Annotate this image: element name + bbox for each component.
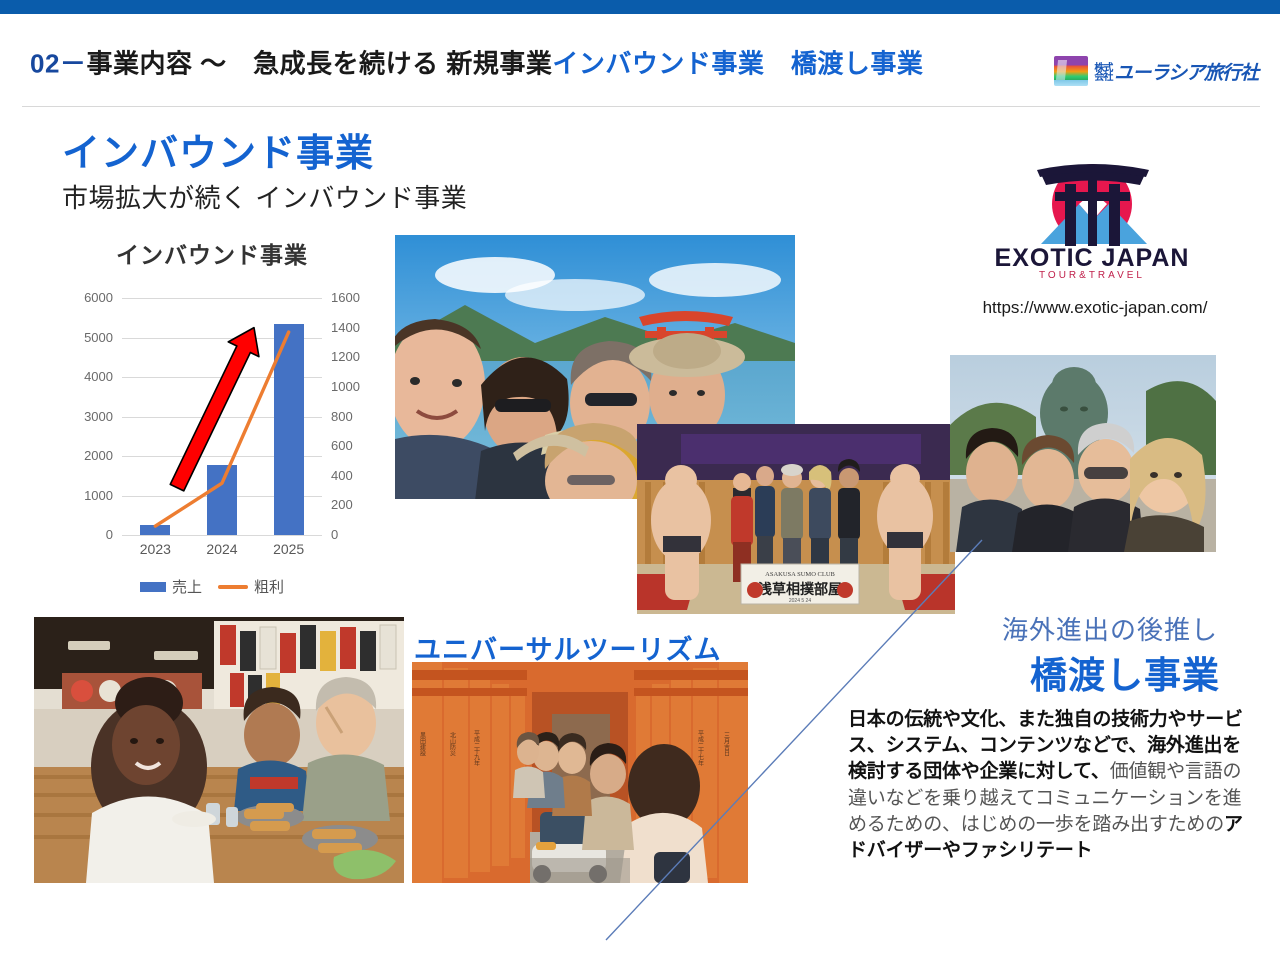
chart-gridline [122,535,322,536]
photo-kamakura-daibutsu-selfie [950,355,1216,552]
chart-xtick: 2023 [140,541,171,557]
chart-ytick-right: 1600 [331,290,360,305]
chart-ytick-right: 1200 [331,349,360,364]
legend-item-sales: 売上 [140,576,202,597]
chart-plot-area: 6000500040003000200010000160014001200100… [122,298,322,535]
exotic-japan-brand: EXOTIC JAPAN [995,244,1190,272]
header-title-blue: インバウンド事業 橋渡し事業 [552,49,923,79]
bridge-body-bold-5: やファシリテート [942,840,1092,861]
svg-text:平成二十九年: 平成二十九年 [473,730,480,767]
header-divider [22,106,1260,107]
header-index: 02 [30,49,60,79]
chart-ytick-left: 6000 [84,290,113,305]
svg-text:三月吉日: 三月吉日 [723,732,730,757]
bridge-body-bold-1: 日本の伝統や文化、また独自の技術力や [848,709,1186,730]
photo-fushimi-art: 黒田建設 北山防災 平成二十九年 平成二十七年 三月吉日 [412,662,748,883]
svg-text:北山防災: 北山防災 [449,731,456,756]
bridge-body-light-3: めの一歩を踏み出すための [998,814,1224,835]
section-subtitle: 市場拡大が続く インバウンド事業 [62,178,467,215]
photo-restaurant-art [34,617,404,883]
sumo-club-sign-icon: ASAKUSA SUMO CLUB 浅草相撲部屋 2024 5 24 [741,564,859,604]
top-accent-bar [0,0,1280,14]
section-title: インバウンド事業 [62,122,374,177]
photo-daibutsu-art [950,355,1216,552]
corporate-logo: 株式会社ユーラシア旅行社 [1054,56,1258,86]
chart-ytick-left: 1000 [84,488,113,503]
header-title: 02－事業内容 ～ 急成長を続ける 新規事業インバウンド事業 橋渡し事業 [30,44,923,81]
slide: 02－事業内容 ～ 急成長を続ける 新規事業インバウンド事業 橋渡し事業 株式会… [0,0,1280,960]
eurasia-travel-mark-icon [1054,56,1088,86]
chart-ytick-left: 5000 [84,330,113,345]
header-dash: － [60,49,87,79]
inbound-business-chart: インバウンド事業 6000500040003000200010000160014… [34,236,390,608]
chart-ytick-right: 200 [331,497,353,512]
svg-text:2024 5 24: 2024 5 24 [789,598,811,604]
legend-swatch-bar-icon [140,582,166,592]
bridge-subtitle: 海外進出の後推し [1002,610,1218,647]
bridge-body-text: 日本の伝統や文化、また独自の技術力やサービス、システム、コンテンツなどで、海外進… [848,707,1248,864]
chart-ytick-left: 4000 [84,369,113,384]
chart-ytick-right: 600 [331,438,353,453]
legend-label-sales: 売上 [172,576,202,597]
legend-swatch-line-icon [218,585,248,589]
photo-fushimi-inari-universal-tourism: 黒田建設 北山防災 平成二十九年 平成二十七年 三月吉日 [412,662,748,883]
chart-ytick-left: 2000 [84,448,113,463]
svg-text:浅草相撲部屋: 浅草相撲部屋 [758,581,842,598]
photo-asakusa-sumo-club: ASAKUSA SUMO CLUB 浅草相撲部屋 2024 5 24 [637,424,955,614]
header-title-dark: 事業内容 ～ 急成長を続ける 新規事業 [86,49,552,79]
chart-title: インバウンド事業 [34,236,390,270]
photo-kushikatsu-restaurant [34,617,404,883]
chart-ytick-left: 0 [106,527,113,542]
exotic-japan-logo: EXOTIC JAPAN TOUR&TRAVEL [975,162,1210,280]
growth-arrow-icon [122,298,322,535]
chart-ytick-right: 1400 [331,320,360,335]
chart-ytick-right: 1000 [331,379,360,394]
svg-text:黒田建設: 黒田建設 [419,732,426,757]
photo-sumo-art: ASAKUSA SUMO CLUB 浅草相撲部屋 2024 5 24 [637,424,955,614]
chart-ytick-left: 3000 [84,409,113,424]
torii-gate-sun-fuji-icon: EXOTIC JAPAN TOUR&TRAVEL [975,162,1210,280]
slide-header: 02－事業内容 ～ 急成長を続ける 新規事業インバウンド事業 橋渡し事業 株式会… [0,14,1280,100]
chart-ytick-right: 0 [331,527,338,542]
exotic-japan-url[interactable]: https://www.exotic-japan.com/ [950,298,1240,318]
chart-legend: 売上 粗利 [34,576,390,597]
svg-text:ASAKUSA SUMO CLUB: ASAKUSA SUMO CLUB [765,571,835,578]
exotic-japan-tagline: TOUR&TRAVEL [1039,270,1145,280]
bridge-title: 橋渡し事業 [1030,645,1220,699]
corporate-name: 株式会社ユーラシア旅行社 [1094,58,1258,85]
chart-xtick: 2024 [206,541,237,557]
svg-text:平成二十七年: 平成二十七年 [697,730,704,767]
corporate-name-text: ユーラシア旅行社 [1114,63,1258,84]
chart-ytick-right: 400 [331,468,353,483]
legend-label-gross-profit: 粗利 [254,576,284,597]
chart-ytick-right: 800 [331,409,353,424]
legend-item-gross-profit: 粗利 [218,576,284,597]
corporate-name-prefix: 株式会社 [1094,64,1112,82]
chart-xtick: 2025 [273,541,304,557]
universal-tourism-title: ユニバーサルツーリズム [414,628,721,667]
